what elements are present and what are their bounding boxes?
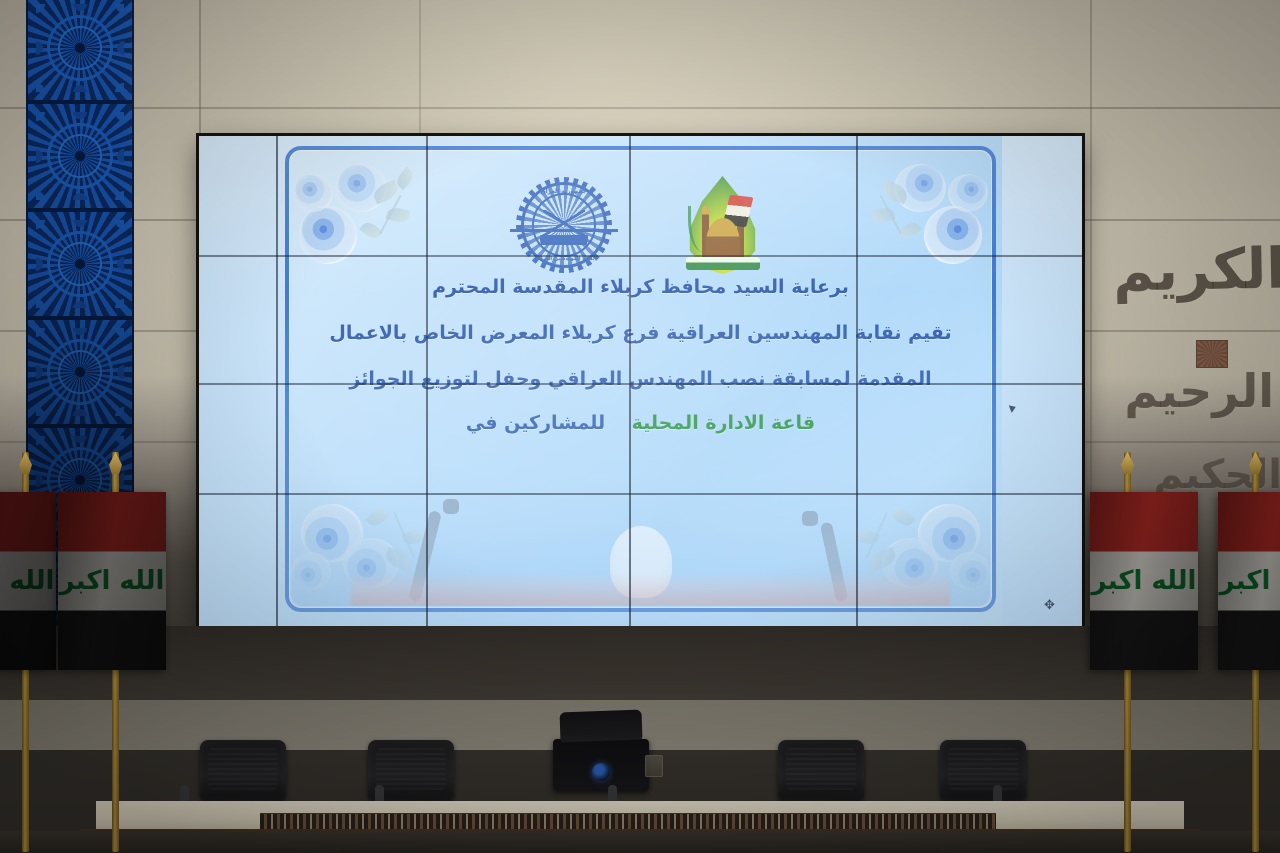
pattern-tile xyxy=(26,318,134,426)
slide-text-block: برعاية السيد محافظ كربلاء المقدسة المحتر… xyxy=(295,276,986,434)
iraq-flag: الله اكبر xyxy=(1090,492,1198,670)
presentation-slide: جمهورية العراق نقابة المهندسين العراقية … xyxy=(199,136,1082,626)
crowd-blur xyxy=(351,572,950,606)
iraqi-engineers-union-logo-icon: جمهورية العراق نقابة المهندسين العراقية xyxy=(516,177,612,273)
chair[interactable] xyxy=(778,740,864,800)
podium-screen-lid xyxy=(560,710,643,743)
karbala-governorate-logo-icon xyxy=(680,176,766,274)
pattern-tile xyxy=(26,102,134,210)
pattern-tile xyxy=(26,210,134,318)
floor-shadow xyxy=(0,831,1280,853)
chair[interactable] xyxy=(940,740,1026,800)
slide-line-3: المقدمة لمسابقة نصب المهندس العراقي وحفل… xyxy=(295,368,986,390)
iraq-flag: الله اكبر xyxy=(1218,492,1280,670)
raised-fist xyxy=(802,511,818,526)
slide-logos: جمهورية العراق نقابة المهندسين العراقية xyxy=(199,174,1082,276)
celebration-photo xyxy=(291,476,990,606)
iraq-flag: الله اكبر xyxy=(58,492,166,670)
pattern-tile xyxy=(26,0,134,102)
arabic-calligraphy-1: الكريم xyxy=(1113,241,1280,300)
hall-name-text: قاعة الادارة المحلية xyxy=(632,412,816,434)
logo-text-top: جمهورية العراق xyxy=(516,188,612,195)
slide-line-4: قاعة الادارة المحلية للمشاركين في xyxy=(295,412,986,434)
video-wall[interactable]: جمهورية العراق نقابة المهندسين العراقية … xyxy=(199,136,1082,626)
raised-hand xyxy=(443,499,459,514)
slide-line-1: برعاية السيد محافظ كربلاء المقدسة المحتر… xyxy=(295,276,986,298)
arabic-calligraphy-3: الحكيم xyxy=(1153,455,1280,495)
arabic-calligraphy-2: الرحيم xyxy=(1124,368,1274,414)
participants-text: للمشاركين في xyxy=(466,412,605,434)
camera-icon xyxy=(592,763,610,781)
wall-socket xyxy=(645,755,663,777)
iraq-flag: الله اكبر xyxy=(0,492,56,670)
screenshot-scene: الكريم الرحيم الحكيم xyxy=(0,0,1280,853)
logo-text-bottom: نقابة المهندسين العراقية xyxy=(516,256,612,262)
chair[interactable] xyxy=(200,740,286,800)
slide-line-2: تقيم نقابة المهندسين العراقية فرع كربلاء… xyxy=(295,322,986,344)
